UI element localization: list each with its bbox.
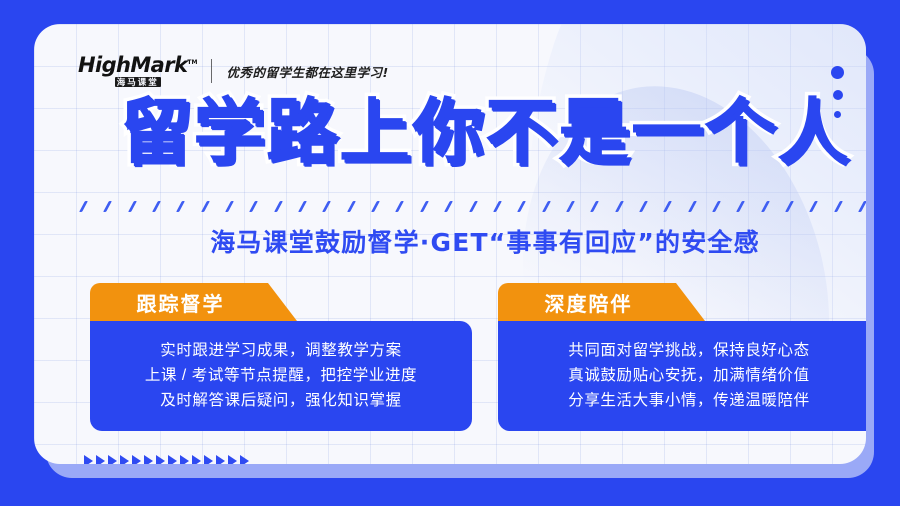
triangle-right-icon <box>204 455 213 464</box>
dash-slash-icon <box>761 201 769 212</box>
arrow-decoration-row <box>84 455 249 464</box>
page-title: 留学路上你不是一个人 <box>70 96 866 167</box>
card-line: 实时跟进学习成果，调整教学方案 <box>90 338 472 363</box>
logo-trademark: TM <box>187 59 197 66</box>
triangle-right-icon <box>144 455 153 464</box>
triangle-right-icon <box>192 455 201 464</box>
dash-slash-icon <box>420 201 428 212</box>
dash-slash-icon <box>274 201 282 212</box>
feature-card-tracking: 跟踪督学 实时跟进学习成果，调整教学方案 上课 / 考试等节点提醒，把控学业进度… <box>90 283 472 431</box>
card-tab-label: 跟踪督学 <box>90 283 297 321</box>
dash-slash-icon <box>493 201 501 212</box>
dot-decoration-column <box>831 66 844 118</box>
dashed-divider <box>82 200 866 212</box>
triangle-right-icon <box>96 455 105 464</box>
dash-slash-icon <box>225 201 233 212</box>
triangle-right-icon <box>84 455 93 464</box>
dash-slash-icon <box>201 201 209 212</box>
triangle-right-icon <box>228 455 237 464</box>
card-line: 分享生活大事小情，传递温暖陪伴 <box>498 388 866 413</box>
triangle-right-icon <box>132 455 141 464</box>
dash-slash-icon <box>736 201 744 212</box>
triangle-right-icon <box>156 455 165 464</box>
dash-slash-icon <box>347 201 355 212</box>
dash-slash-icon <box>688 201 696 212</box>
dash-slash-icon <box>517 201 525 212</box>
card-line: 真诚鼓励贴心安抚，加满情绪价值 <box>498 363 866 388</box>
page-subtitle: 海马课堂鼓励督学·GET“事事有回应”的安全感 <box>70 223 866 259</box>
logo-wordmark: HighMarkTM <box>78 55 197 76</box>
dash-slash-icon <box>712 201 720 212</box>
dash-slash-icon <box>176 201 184 212</box>
dash-slash-icon <box>858 201 866 212</box>
dot-large-icon <box>831 66 844 79</box>
dash-slash-icon <box>663 201 671 212</box>
dash-slash-icon <box>103 201 111 212</box>
dash-slash-icon <box>590 201 598 212</box>
dash-slash-icon <box>444 201 452 212</box>
brand-header: HighMarkTM 海马课堂 优秀的留学生都在这里学习! <box>78 54 389 88</box>
card-line: 及时解答课后疑问，强化知识掌握 <box>90 388 472 413</box>
card-line: 上课 / 考试等节点提醒，把控学业进度 <box>90 363 472 388</box>
dot-medium-icon <box>833 90 843 100</box>
dot-small-icon <box>834 111 841 118</box>
header-divider <box>211 59 212 83</box>
triangle-right-icon <box>120 455 129 464</box>
main-panel: HighMarkTM 海马课堂 优秀的留学生都在这里学习! 留学路上你不是一个人… <box>34 24 866 464</box>
triangle-right-icon <box>240 455 249 464</box>
poster-canvas: HighMarkTM 海马课堂 优秀的留学生都在这里学习! 留学路上你不是一个人… <box>0 0 900 506</box>
logo-wordmark-text: HighMark <box>78 53 187 77</box>
dash-slash-icon <box>809 201 817 212</box>
dash-slash-icon <box>834 201 842 212</box>
triangle-right-icon <box>180 455 189 464</box>
card-body: 实时跟进学习成果，调整教学方案 上课 / 考试等节点提醒，把控学业进度 及时解答… <box>90 321 472 431</box>
card-line: 共同面对留学挑战，保持良好心态 <box>498 338 866 363</box>
logo-chinese-name: 海马课堂 <box>115 77 161 88</box>
card-tab-label: 深度陪伴 <box>498 283 705 321</box>
dash-slash-icon <box>615 201 623 212</box>
feature-cards: 跟踪督学 实时跟进学习成果，调整教学方案 上课 / 考试等节点提醒，把控学业进度… <box>90 283 866 431</box>
dash-slash-icon <box>396 201 404 212</box>
dash-slash-icon <box>152 201 160 212</box>
dash-slash-icon <box>323 201 331 212</box>
logo: HighMarkTM 海马课堂 <box>78 55 197 88</box>
dash-slash-icon <box>249 201 257 212</box>
triangle-right-icon <box>108 455 117 464</box>
dash-slash-icon <box>566 201 574 212</box>
dash-slash-icon <box>371 201 379 212</box>
dash-slash-icon <box>639 201 647 212</box>
feature-card-companionship: 深度陪伴 共同面对留学挑战，保持良好心态 真诚鼓励贴心安抚，加满情绪价值 分享生… <box>498 283 866 431</box>
dash-slash-icon <box>128 201 136 212</box>
dash-slash-icon <box>542 201 550 212</box>
dash-slash-icon <box>469 201 477 212</box>
dash-slash-icon <box>785 201 793 212</box>
brand-tagline: 优秀的留学生都在这里学习! <box>226 62 388 81</box>
triangle-right-icon <box>216 455 225 464</box>
dash-slash-icon <box>298 201 306 212</box>
card-body: 共同面对留学挑战，保持良好心态 真诚鼓励贴心安抚，加满情绪价值 分享生活大事小情… <box>498 321 866 431</box>
triangle-right-icon <box>168 455 177 464</box>
